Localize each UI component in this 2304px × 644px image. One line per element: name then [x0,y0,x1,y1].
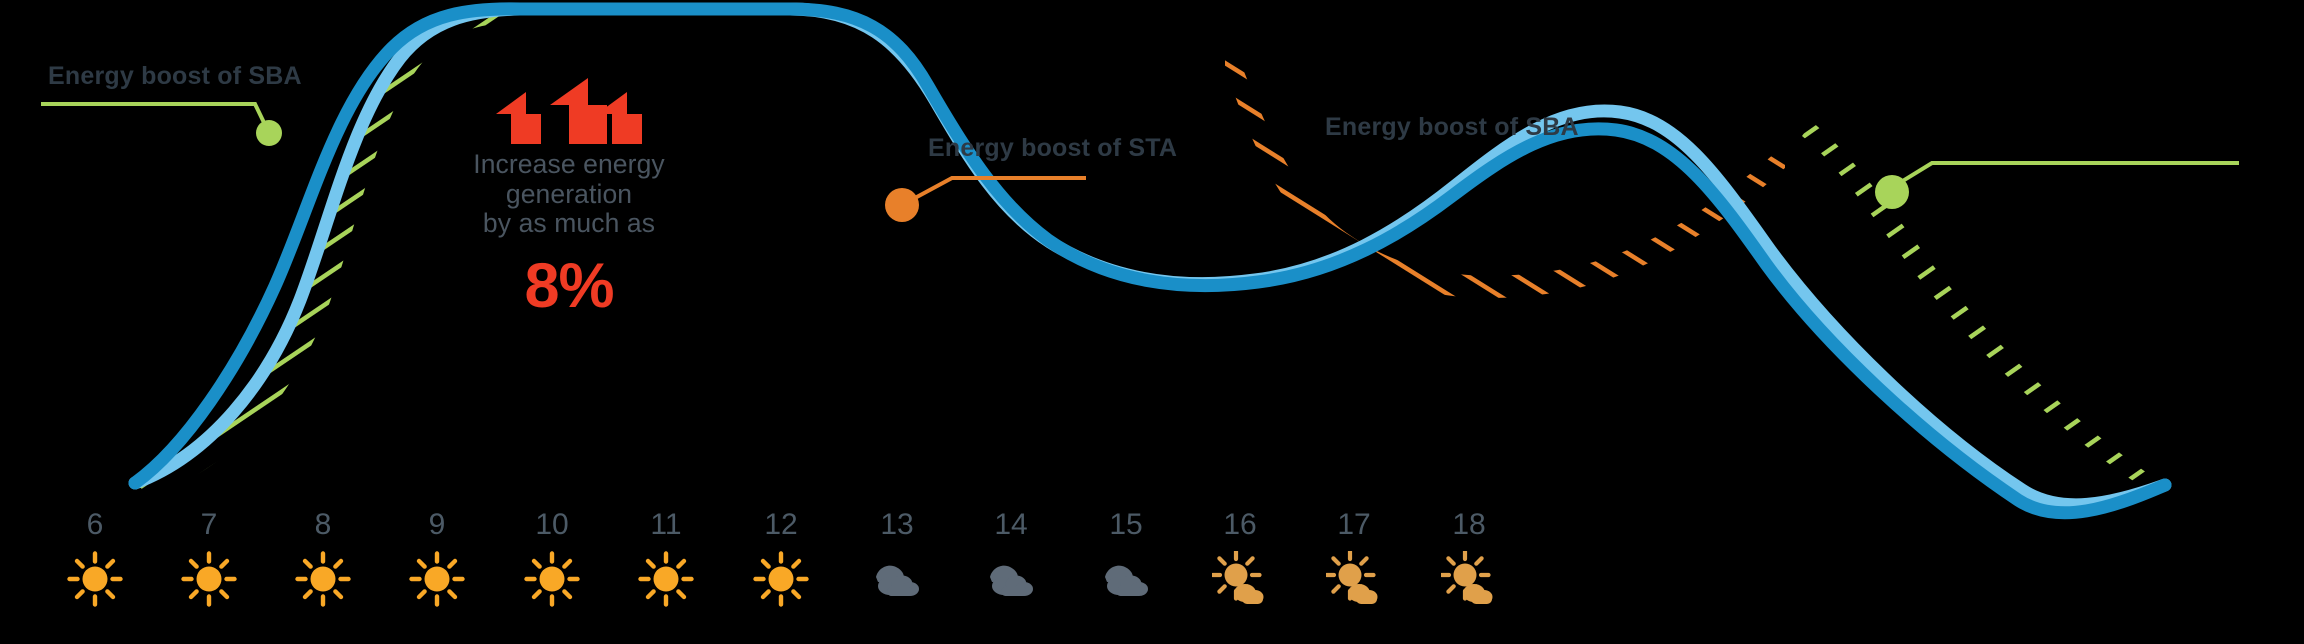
cloud-icon [869,551,925,607]
sun-icon [295,551,351,607]
weather-icon-sun [721,551,841,607]
partly-cloudy-icon [1441,551,1497,607]
axis-tick-hour-11: 11 [606,510,726,607]
sun-icon [524,551,580,607]
weather-icon-sun [606,551,726,607]
axis-tick-label: 12 [721,510,841,540]
axis-tick-hour-16: 16 [1180,510,1300,607]
axis-tick-hour-7: 7 [149,510,269,607]
sun-icon [67,551,123,607]
axis-tick-label: 17 [1294,510,1414,540]
weather-icon-cloud [837,551,957,607]
axis-tick-hour-15: 15 [1066,510,1186,607]
partly-cloudy-icon [1326,551,1382,607]
axis-tick-hour-14: 14 [951,510,1071,607]
weather-icon-sun [492,551,612,607]
sun-icon [409,551,465,607]
cloud-icon [983,551,1039,607]
axis-tick-hour-18: 18 [1409,510,1529,607]
x-axis: 6 7 8 9 10 11 12 13 14 15 16 [0,0,2304,644]
sun-icon [753,551,809,607]
axis-tick-label: 7 [149,510,269,540]
axis-tick-label: 8 [263,510,383,540]
weather-icon-partly-cloudy [1409,551,1529,607]
partly-cloudy-icon [1212,551,1268,607]
axis-tick-hour-6: 6 [35,510,155,607]
axis-tick-label: 13 [837,510,957,540]
axis-tick-label: 6 [35,510,155,540]
axis-tick-hour-17: 17 [1294,510,1414,607]
weather-icon-sun [149,551,269,607]
axis-tick-label: 14 [951,510,1071,540]
axis-tick-hour-10: 10 [492,510,612,607]
weather-icon-sun [377,551,497,607]
weather-icon-partly-cloudy [1294,551,1414,607]
weather-icon-cloud [1066,551,1186,607]
weather-icon-cloud [951,551,1071,607]
axis-tick-hour-12: 12 [721,510,841,607]
weather-icon-sun [263,551,383,607]
infographic-canvas: Energy boost of SBA Energy boost of STA … [0,0,2304,644]
axis-tick-label: 10 [492,510,612,540]
weather-icon-sun [35,551,155,607]
axis-tick-label: 16 [1180,510,1300,540]
sun-icon [638,551,694,607]
weather-icon-partly-cloudy [1180,551,1300,607]
axis-tick-label: 9 [377,510,497,540]
axis-tick-hour-8: 8 [263,510,383,607]
axis-tick-label: 11 [606,510,726,540]
axis-tick-hour-13: 13 [837,510,957,607]
cloud-icon [1098,551,1154,607]
sun-icon [181,551,237,607]
axis-tick-hour-9: 9 [377,510,497,607]
axis-tick-label: 15 [1066,510,1186,540]
axis-tick-label: 18 [1409,510,1529,540]
